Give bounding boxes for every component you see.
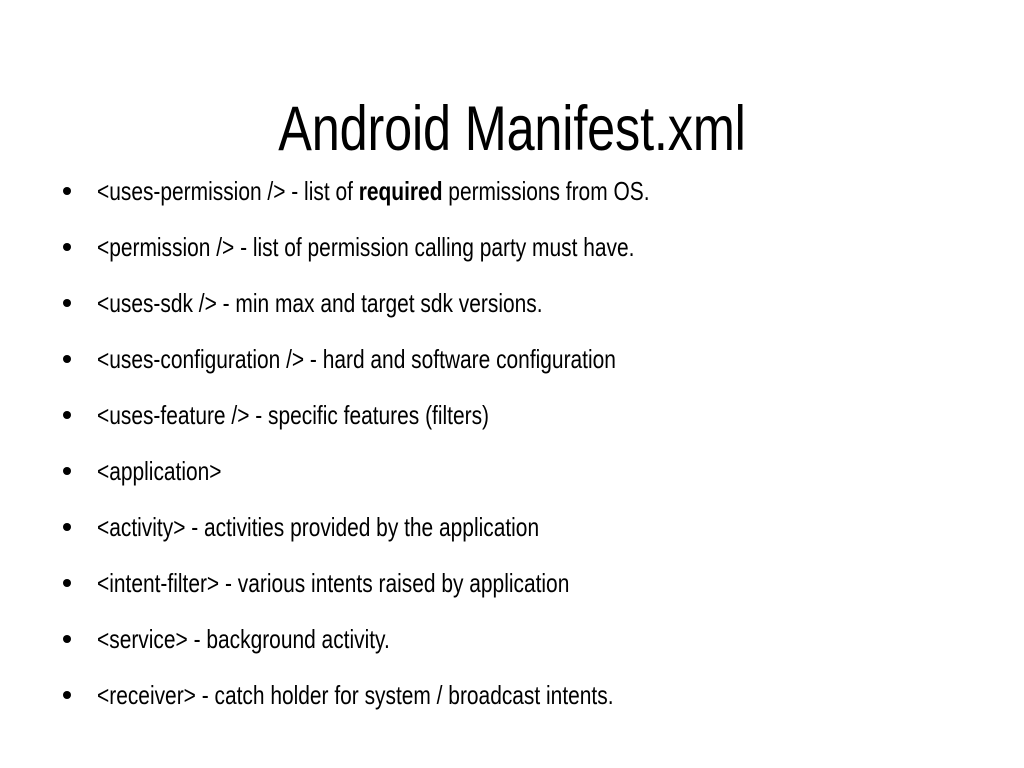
list-item-separator: -: [285, 176, 304, 206]
slide-title: Android Manifest.xml: [102, 96, 921, 162]
list-item-tag: <uses-sdk />: [97, 288, 217, 318]
list-item-description-lead: min max and target sdk versions.: [235, 288, 542, 318]
bullet-dot-icon: [63, 243, 71, 251]
list-item-label: <uses-feature /> - specific features (fi…: [97, 402, 816, 428]
list-item-description-lead: activities provided by the application: [204, 512, 539, 542]
list-item-tag: <receiver>: [97, 680, 196, 710]
list-item-label: <uses-configuration /> - hard and softwa…: [97, 346, 816, 372]
bullet-dot-icon: [63, 635, 71, 643]
list-item-separator: -: [185, 512, 204, 542]
list-item: <permission /> - list of permission call…: [60, 234, 990, 290]
bullet-dot-icon: [63, 299, 71, 307]
list-item-tag: <application>: [97, 456, 222, 486]
bullet-dot-icon: [63, 355, 71, 363]
list-item: <uses-permission /> - list of required p…: [60, 178, 990, 234]
list-item-tag: <permission />: [97, 232, 234, 262]
list-item: <service> - background activity.: [60, 626, 990, 682]
list-item: <application>: [60, 458, 990, 514]
list-item-label: <uses-permission /> - list of required p…: [97, 178, 816, 204]
list-item-label: <intent-filter> - various intents raised…: [97, 570, 816, 596]
bullet-dot-icon: [63, 187, 71, 195]
list-item-description-lead: list of: [304, 176, 359, 206]
list-item-tag: <uses-permission />: [97, 176, 285, 206]
list-item: <activity> - activities provided by the …: [60, 514, 990, 570]
list-item-description-lead: catch holder for system / broadcast inte…: [214, 680, 613, 710]
list-item-description-lead: hard and software configuration: [323, 344, 616, 374]
list-item-description-tail: permissions from OS.: [442, 176, 649, 206]
list-item-tag: <uses-feature />: [97, 400, 249, 430]
list-item-tag: <intent-filter>: [97, 568, 219, 598]
list-item-emphasis: required: [359, 176, 443, 206]
list-item-label: <application>: [97, 458, 816, 484]
bullet-dot-icon: [63, 579, 71, 587]
list-item-tag: <activity>: [97, 512, 185, 542]
presentation-slide: Android Manifest.xml <uses-permission />…: [0, 0, 1024, 768]
bullet-dot-icon: [63, 523, 71, 531]
list-item-description-lead: background activity.: [206, 624, 389, 654]
list-item-separator: -: [304, 344, 323, 374]
list-item: <uses-feature /> - specific features (fi…: [60, 402, 990, 458]
list-item-separator: -: [196, 680, 215, 710]
bullet-dot-icon: [63, 691, 71, 699]
bullet-dot-icon: [63, 411, 71, 419]
manifest-element-list: <uses-permission /> - list of required p…: [60, 178, 990, 738]
list-item-description-lead: various intents raised by application: [238, 568, 570, 598]
bullet-dot-icon: [63, 467, 71, 475]
list-item-separator: -: [217, 288, 236, 318]
list-item: <uses-sdk /> - min max and target sdk ve…: [60, 290, 990, 346]
list-item-label: <uses-sdk /> - min max and target sdk ve…: [97, 290, 816, 316]
list-item-description-lead: specific features (filters): [268, 400, 489, 430]
list-item-label: <permission /> - list of permission call…: [97, 234, 816, 260]
list-item-description-lead: list of permission calling party must ha…: [253, 232, 635, 262]
list-item-separator: -: [188, 624, 207, 654]
list-item-label: <receiver> - catch holder for system / b…: [97, 682, 816, 708]
list-item-label: <service> - background activity.: [97, 626, 816, 652]
list-item-label: <activity> - activities provided by the …: [97, 514, 816, 540]
list-item-separator: -: [219, 568, 238, 598]
list-item-separator: -: [234, 232, 253, 262]
list-item: <intent-filter> - various intents raised…: [60, 570, 990, 626]
list-item: <uses-configuration /> - hard and softwa…: [60, 346, 990, 402]
list-item: <receiver> - catch holder for system / b…: [60, 682, 990, 738]
list-item-tag: <service>: [97, 624, 188, 654]
list-item-separator: -: [249, 400, 268, 430]
list-item-tag: <uses-configuration />: [97, 344, 304, 374]
